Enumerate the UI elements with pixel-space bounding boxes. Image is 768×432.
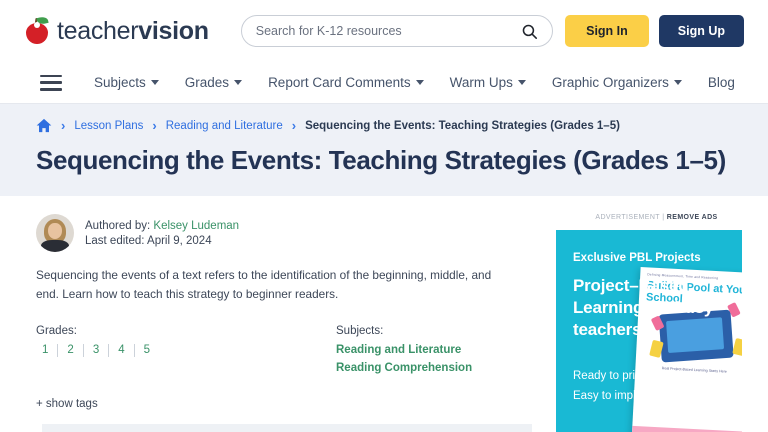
main-navigation: Subjects Grades Report Card Comments War…	[0, 62, 768, 104]
ad-label: ADVERTISEMENT	[595, 214, 659, 221]
last-edited-line: Last edited: April 9, 2024	[85, 235, 239, 247]
grade-chip-2[interactable]: 2	[58, 344, 83, 357]
authored-by-line: Authored by: Kelsey Ludeman	[85, 220, 239, 232]
ad-footer-line-1: Ready to print.	[573, 366, 671, 386]
nav-label: Warm Ups	[450, 75, 513, 90]
grade-chip-4[interactable]: 4	[109, 344, 134, 357]
breadcrumb-separator: ›	[292, 118, 296, 133]
nav-item-graphic-organizers[interactable]: Graphic Organizers	[552, 75, 682, 90]
ad-header: ADVERTISEMENT | REMOVE ADS	[545, 214, 768, 221]
breadcrumb-item-current: Sequencing the Events: Teaching Strategi…	[305, 120, 620, 132]
content-panel-placeholder	[42, 424, 532, 432]
nav-item-grades[interactable]: Grades	[185, 75, 242, 90]
logo-text-light: teacher	[57, 17, 138, 45]
grades-section: Grades: 1 2 3 4 5	[36, 325, 336, 380]
apple-logo-icon	[24, 16, 50, 46]
author-meta: Authored by: Kelsey Ludeman Last edited:…	[85, 220, 239, 247]
breadcrumb-separator: ›	[61, 118, 65, 133]
subjects-section: Subjects: Reading and Literature Reading…	[336, 325, 472, 380]
chevron-down-icon	[518, 80, 526, 85]
logo-text-bold: vision	[138, 17, 208, 45]
nav-item-blog[interactable]: Blog	[708, 75, 735, 90]
site-logo[interactable]: teachervision	[24, 16, 209, 46]
sign-in-button[interactable]: Sign In	[565, 15, 649, 47]
chevron-down-icon	[234, 80, 242, 85]
subject-link-reading-comprehension[interactable]: Reading Comprehension	[336, 362, 472, 374]
ad-footer-text: Ready to print. Easy to implement.	[573, 366, 671, 406]
subjects-label: Subjects:	[336, 325, 472, 337]
breadcrumb: › Lesson Plans › Reading and Literature …	[36, 118, 732, 133]
breadcrumb-band: › Lesson Plans › Reading and Literature …	[0, 104, 768, 196]
sign-up-button[interactable]: Sign Up	[659, 15, 744, 47]
nav-label: Blog	[708, 75, 735, 90]
author-block: Authored by: Kelsey Ludeman Last edited:…	[36, 214, 515, 252]
nav-label: Report Card Comments	[268, 75, 411, 90]
show-tags-toggle[interactable]: + show tags	[36, 398, 515, 410]
home-icon[interactable]	[36, 118, 52, 133]
article-meta: Grades: 1 2 3 4 5 Subjects: Reading and …	[36, 325, 515, 380]
ad-footer-line-2: Easy to implement.	[573, 386, 671, 406]
grade-chip-5[interactable]: 5	[135, 344, 159, 357]
avatar	[36, 214, 74, 252]
grade-chip-1[interactable]: 1	[36, 344, 58, 357]
nav-label: Graphic Organizers	[552, 75, 669, 90]
ad-divider: |	[662, 214, 664, 221]
chevron-down-icon	[674, 80, 682, 85]
nav-item-subjects[interactable]: Subjects	[94, 75, 159, 90]
hamburger-icon[interactable]	[40, 75, 62, 91]
author-name-link[interactable]: Kelsey Ludeman	[153, 220, 239, 232]
breadcrumb-separator: ›	[152, 118, 156, 133]
content-area: Authored by: Kelsey Ludeman Last edited:…	[0, 196, 768, 432]
ad-banner[interactable]: Defining Measurement, Time and Reasoning…	[556, 230, 742, 432]
chevron-down-icon	[151, 80, 159, 85]
article-description: Sequencing the events of a text refers t…	[36, 266, 515, 305]
nav-label: Grades	[185, 75, 229, 90]
subject-link-reading-and-literature[interactable]: Reading and Literature	[336, 344, 472, 356]
nav-label: Subjects	[94, 75, 146, 90]
nav-item-warm-ups[interactable]: Warm Ups	[450, 75, 526, 90]
article-column: Authored by: Kelsey Ludeman Last edited:…	[0, 196, 545, 432]
breadcrumb-item-lesson-plans[interactable]: Lesson Plans	[74, 120, 143, 132]
logo-text: teachervision	[57, 17, 209, 46]
search-box[interactable]	[241, 15, 553, 47]
search-icon[interactable]	[521, 23, 538, 40]
auth-buttons: Sign In Sign Up	[565, 15, 744, 47]
worksheet-footer-strip	[632, 426, 742, 432]
grades-label: Grades:	[36, 325, 336, 337]
ad-headline: Project–Based Learning for busy teachers	[573, 275, 742, 340]
search-input[interactable]	[256, 24, 521, 38]
chevron-down-icon	[416, 80, 424, 85]
authored-by-prefix: Authored by:	[85, 220, 153, 232]
advertisement-column: ADVERTISEMENT | REMOVE ADS Defining Meas…	[545, 196, 768, 432]
nav-item-report-card-comments[interactable]: Report Card Comments	[268, 75, 424, 90]
grades-list: 1 2 3 4 5	[36, 344, 336, 357]
site-header: teachervision Sign In Sign Up	[0, 0, 768, 62]
page-title: Sequencing the Events: Teaching Strategi…	[36, 145, 732, 176]
remove-ads-link[interactable]: REMOVE ADS	[667, 214, 718, 221]
breadcrumb-item-reading-and-literature[interactable]: Reading and Literature	[166, 120, 283, 132]
ad-eyebrow: Exclusive PBL Projects	[573, 252, 701, 264]
grade-chip-3[interactable]: 3	[84, 344, 109, 357]
